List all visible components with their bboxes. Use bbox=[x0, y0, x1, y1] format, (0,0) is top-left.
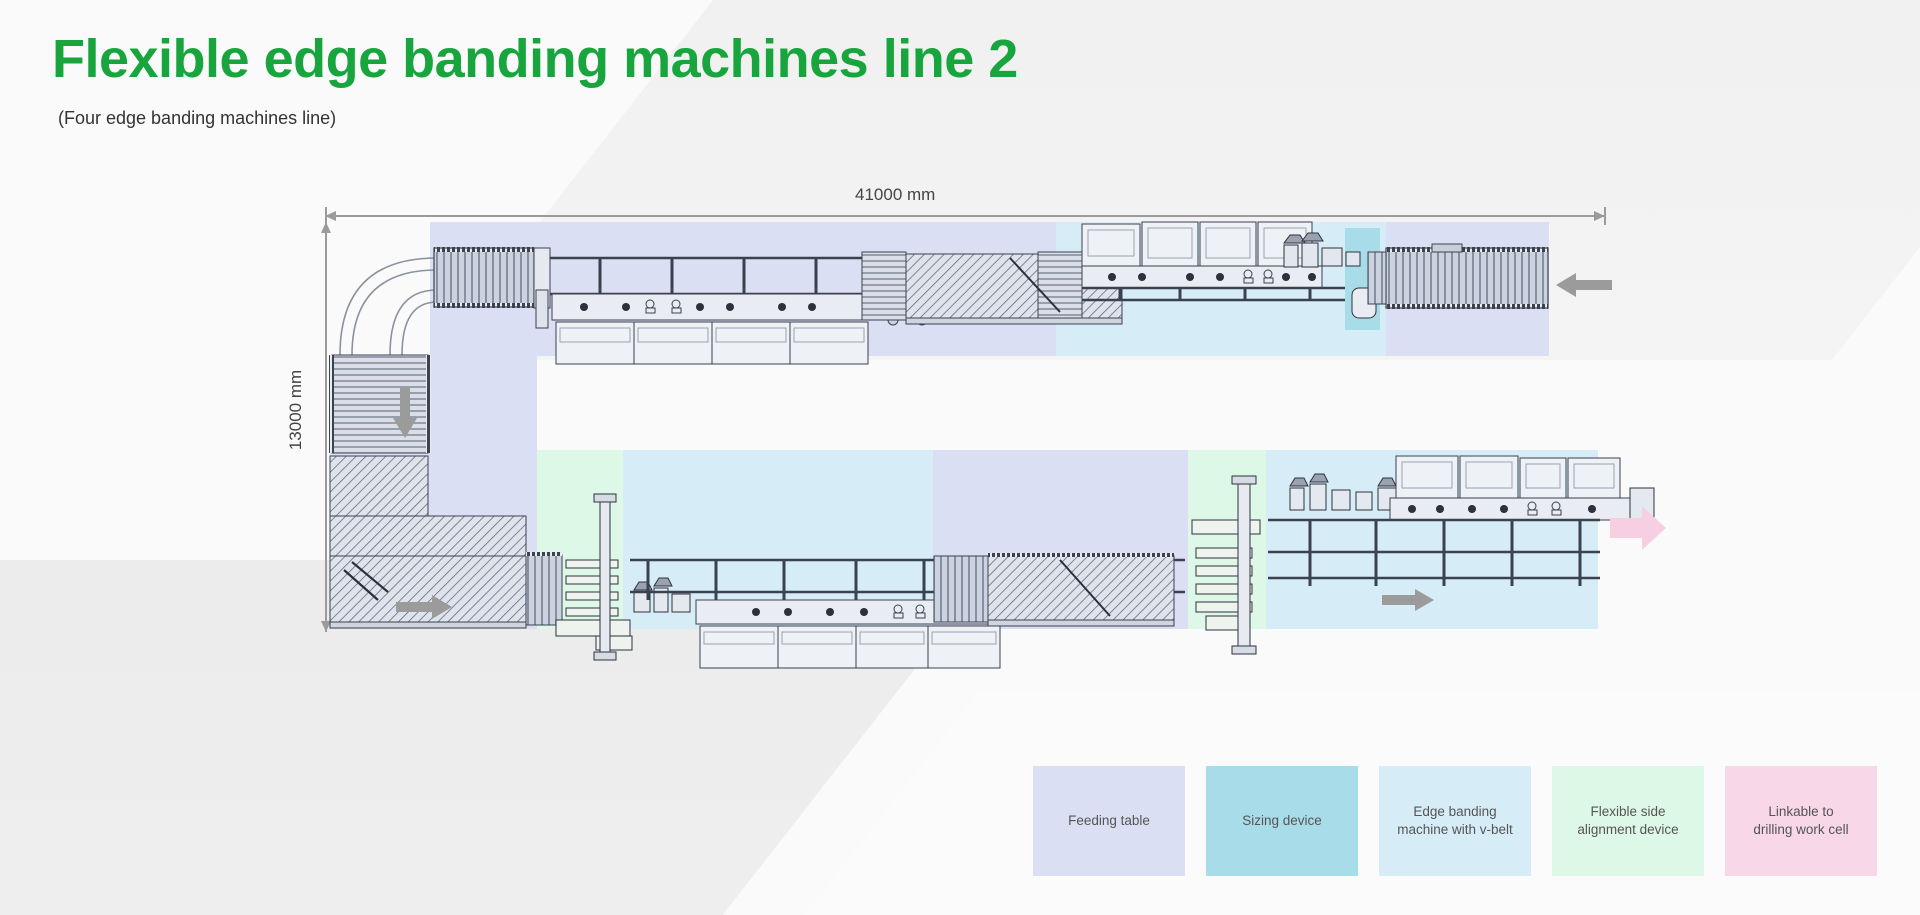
flow-arrow-bottom-line-start-right bbox=[396, 592, 452, 622]
flow-arrow-vertical-transfer-down bbox=[390, 388, 420, 438]
slide-canvas: Flexible edge banding machines line 2 (F… bbox=[0, 0, 1920, 915]
legend-item-feeding-table[interactable]: Feeding table bbox=[1033, 766, 1185, 876]
legend-item-label: Feeding table bbox=[1068, 812, 1150, 830]
legend-item-label: Linkable todrilling work cell bbox=[1753, 803, 1848, 839]
legend-item-label: Edge bandingmachine with v-belt bbox=[1397, 803, 1513, 839]
flow-arrow-output-link-right bbox=[1610, 500, 1666, 556]
legend-item-sizing-device[interactable]: Sizing device bbox=[1206, 766, 1358, 876]
legend-item-edge-banding-machine[interactable]: Edge bandingmachine with v-belt bbox=[1379, 766, 1531, 876]
flow-arrow-bottom-line-mid-right bbox=[1382, 586, 1434, 614]
legend-item-label: Sizing device bbox=[1242, 812, 1322, 830]
legend-item-linkable-drilling[interactable]: Linkable todrilling work cell bbox=[1725, 766, 1877, 876]
legend-item-label: Flexible sidealignment device bbox=[1577, 803, 1678, 839]
legend-item-flexible-side-alignment[interactable]: Flexible sidealignment device bbox=[1552, 766, 1704, 876]
flow-arrow-top-line-left bbox=[1556, 270, 1612, 300]
legend: Feeding tableSizing deviceEdge bandingma… bbox=[1033, 766, 1877, 876]
